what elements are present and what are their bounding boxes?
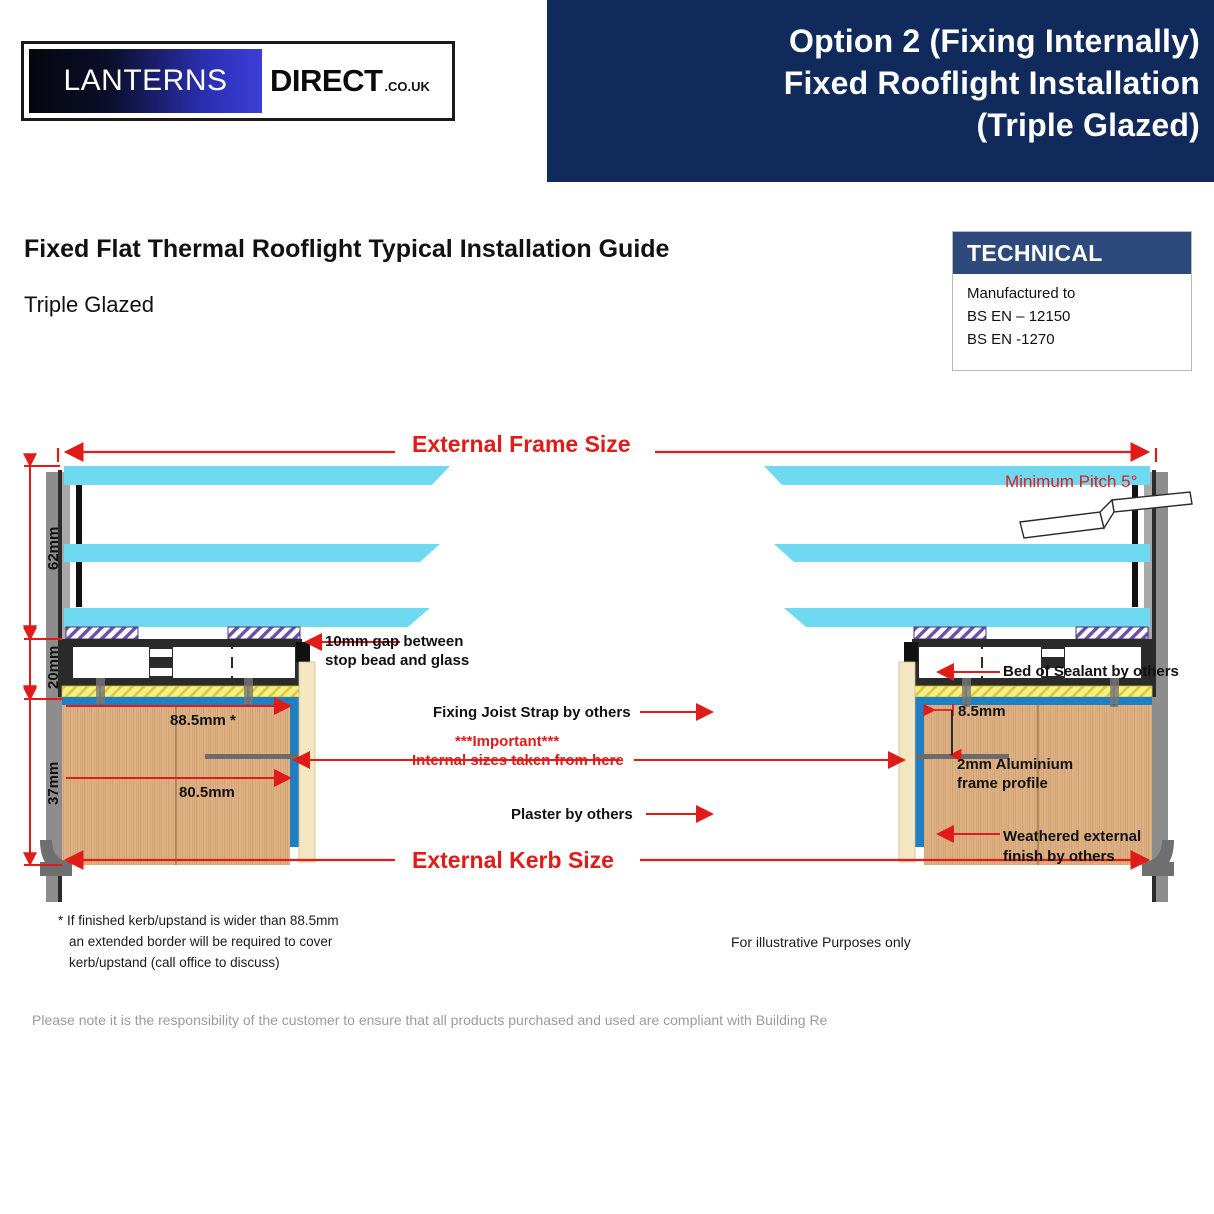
footnote-line-3: kerb/upstand (call office to discuss) (58, 952, 339, 973)
callout-bed-of-sealant: Bed of Sealant by others (1003, 662, 1179, 681)
header-title-line-1: Option 2 (Fixing Internally) (560, 20, 1200, 62)
header-title: Option 2 (Fixing Internally) Fixed Roofl… (560, 20, 1200, 146)
external-frame-size-label: External Frame Size (412, 431, 631, 458)
technical-box: TECHNICAL Manufactured to BS EN – 12150 … (952, 231, 1192, 371)
footnote-asterisk: * If finished kerb/upstand is wider than… (58, 910, 339, 973)
installation-diagram: External Frame Size External Kerb Size 6… (0, 410, 1214, 970)
header-title-line-2: Fixed Rooflight Installation (560, 62, 1200, 104)
technical-heading: TECHNICAL (953, 232, 1191, 274)
dimension-88-5mm: 88.5mm * (170, 712, 236, 729)
technical-line-2: BS EN – 12150 (967, 305, 1191, 328)
technical-line-3: BS EN -1270 (967, 328, 1191, 351)
logo-tld-text: .CO.UK (384, 79, 430, 94)
callout-fixing-joist-strap: Fixing Joist Strap by others (433, 703, 631, 722)
callout-10mm-gap-line-1: 10mm gap between (325, 632, 463, 651)
callout-2mm-aluminium-line-2: frame profile (957, 774, 1048, 793)
callout-2mm-aluminium-line-1: 2mm Aluminium (957, 755, 1073, 774)
brand-logo: LANTERNS DIRECT .CO.UK (21, 41, 455, 121)
disclaimer-text: Please note it is the responsibility of … (32, 1012, 827, 1028)
technical-body: Manufactured to BS EN – 12150 BS EN -127… (953, 274, 1191, 351)
technical-line-1: Manufactured to (967, 282, 1191, 305)
dimension-20mm: 20mm (45, 646, 62, 689)
footnote-line-1: * If finished kerb/upstand is wider than… (58, 910, 339, 931)
dimension-8-5mm: 8.5mm (958, 702, 1006, 721)
important-heading: ***Important*** (455, 732, 559, 751)
page-header: Option 2 (Fixing Internally) Fixed Roofl… (0, 0, 1214, 186)
page-title: Fixed Flat Thermal Rooflight Typical Ins… (24, 235, 669, 264)
dimension-62mm: 62mm (45, 527, 62, 570)
important-note: Internal sizes taken from here (412, 751, 624, 770)
logo-direct-block: DIRECT .CO.UK (262, 44, 452, 118)
minimum-pitch-label: Minimum Pitch 5° (1005, 472, 1137, 492)
header-title-line-3: (Triple Glazed) (560, 104, 1200, 146)
external-kerb-size-label: External Kerb Size (412, 847, 614, 874)
illustrative-note: For illustrative Purposes only (731, 934, 911, 950)
footnote-line-2: an extended border will be required to c… (58, 931, 339, 952)
callout-plaster-by-others: Plaster by others (511, 805, 633, 824)
callout-weathered-finish-line-2: finish by others (1003, 847, 1115, 866)
page-subtitle: Triple Glazed (24, 292, 154, 318)
logo-direct-text: DIRECT (270, 63, 382, 99)
dimension-80-5mm: 80.5mm (179, 784, 235, 801)
dimension-37mm: 37mm (45, 762, 62, 805)
logo-lanterns-text: LANTERNS (63, 64, 227, 98)
logo-lanterns-block: LANTERNS (29, 49, 262, 113)
callout-10mm-gap-line-2: stop bead and glass (325, 651, 469, 670)
diagram-svg (0, 410, 1214, 970)
callout-weathered-finish-line-1: Weathered external (1003, 827, 1141, 846)
